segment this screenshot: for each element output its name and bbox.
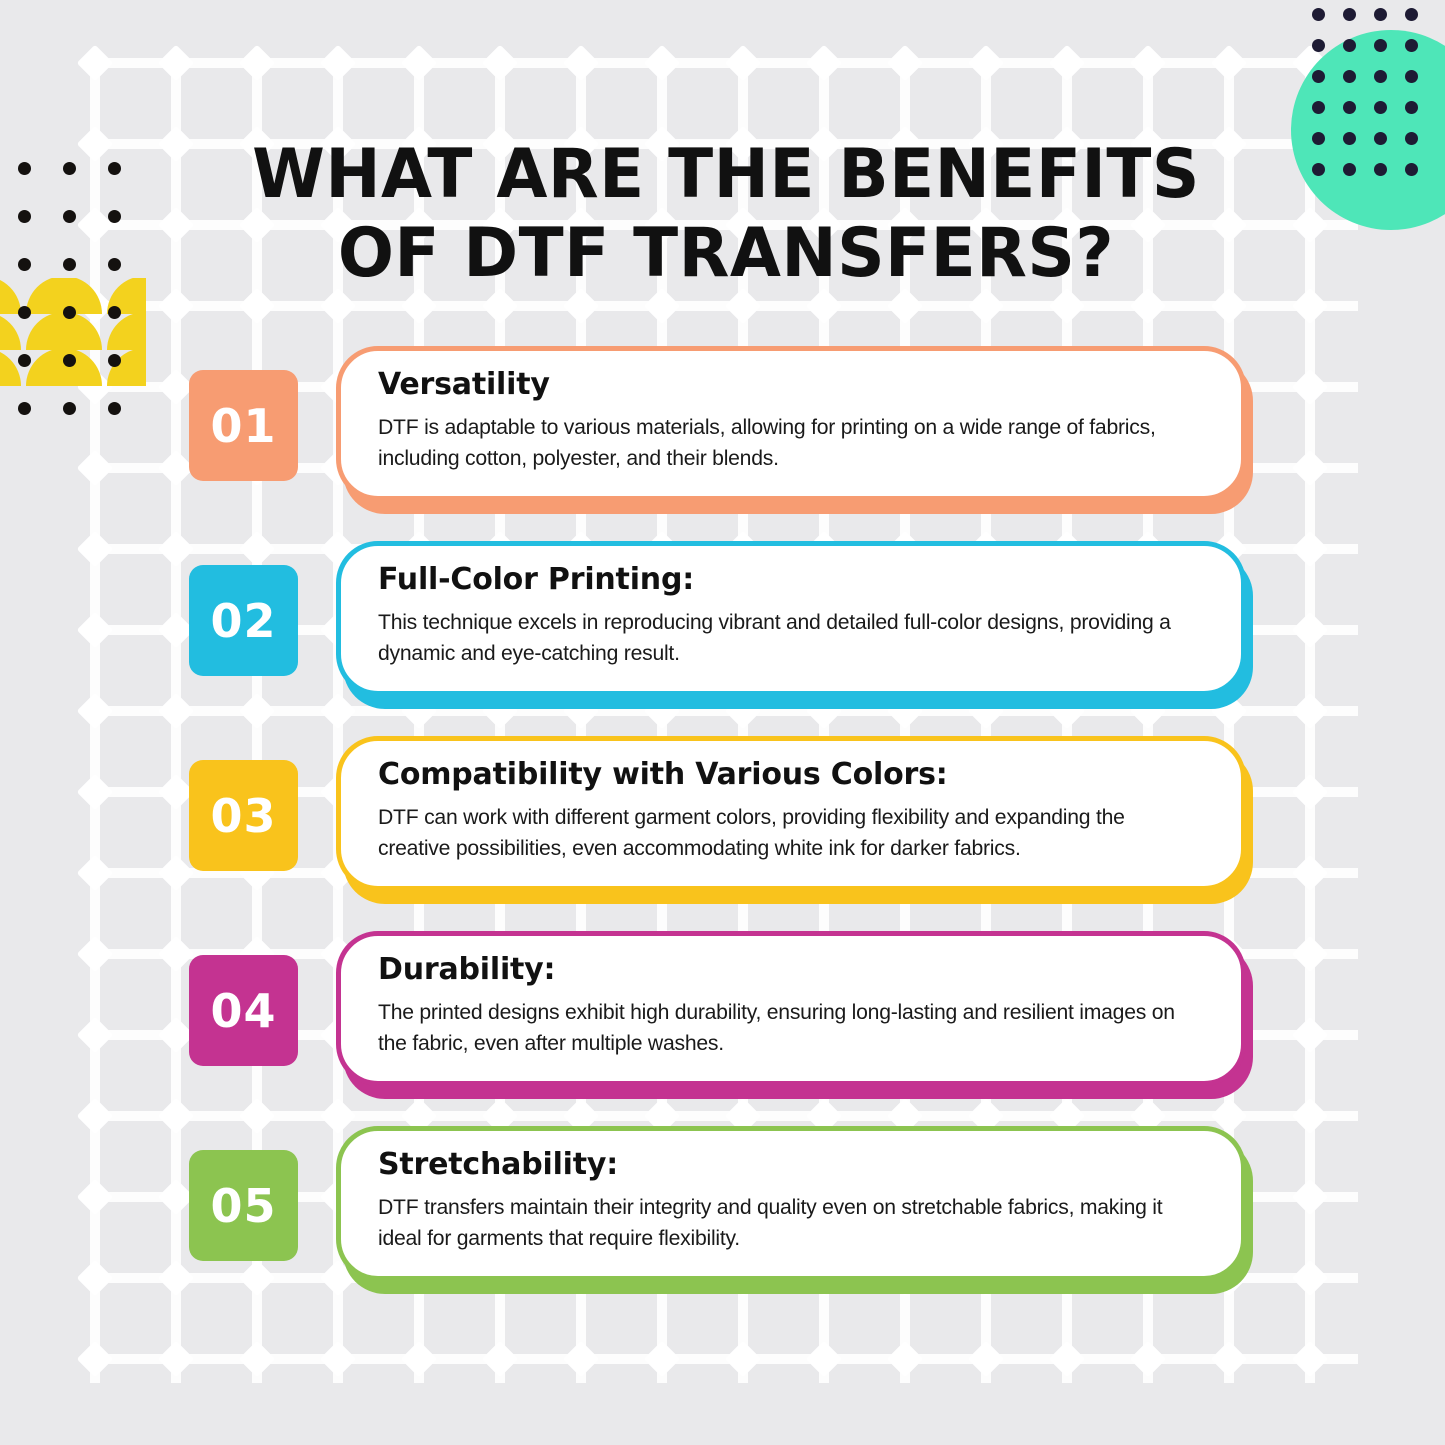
grid-node-diamond [158,288,195,325]
grid-node-diamond [887,45,924,82]
decorative-dot [63,306,76,319]
grid-node-diamond [1130,1341,1167,1378]
arch-shape [0,278,21,314]
decorative-dot [1312,39,1325,52]
grid-node-diamond [725,1341,762,1378]
grid-node-diamond [563,45,600,82]
benefit-title: Compatibility with Various Colors: [378,758,1201,791]
teal-circle-decoration [1291,30,1445,230]
benefit-item: 05Stretchability:DTF transfers maintain … [0,1121,1445,1316]
grid-node-diamond [77,288,114,325]
grid-node-diamond [1049,1341,1086,1378]
benefit-number-badge[interactable]: 02 [189,565,298,676]
benefit-title: Stretchability: [378,1148,1201,1181]
benefit-item: 03Compatibility with Various Colors:DTF … [0,731,1445,926]
benefit-title: Durability: [378,953,1201,986]
decorative-dot [63,162,76,175]
decorative-dot [108,162,121,175]
decorative-dot [1374,8,1387,21]
page-title: WHAT ARE THE BENEFITS OF DTF TRANSFERS? [193,136,1260,294]
arch-shape [107,278,146,314]
grid-node-diamond [1049,45,1086,82]
benefit-description: DTF can work with different garment colo… [378,802,1189,863]
grid-node-diamond [320,1341,357,1378]
decorative-dot [63,210,76,223]
decorative-dot [63,258,76,271]
grid-node-diamond [725,45,762,82]
decorative-dot [18,210,31,223]
grid-node-diamond [806,45,843,82]
benefit-number-badge[interactable]: 03 [189,760,298,871]
benefit-number-badge[interactable]: 05 [189,1150,298,1261]
benefit-description: This technique excels in reproducing vib… [378,607,1189,668]
grid-node-diamond [482,45,519,82]
benefit-description: The printed designs exhibit high durabil… [378,997,1189,1058]
grid-node-diamond [158,45,195,82]
grid-node-diamond [644,1341,681,1378]
decorative-dot [18,306,31,319]
benefit-item: 04Durability:The printed designs exhibit… [0,926,1445,1121]
benefit-card[interactable]: Full-Color Printing:This technique excel… [336,541,1246,696]
decorative-dot [1343,8,1356,21]
grid-node-diamond [158,1341,195,1378]
benefit-title: Full-Color Printing: [378,563,1201,596]
grid-node-diamond [77,207,114,244]
grid-node-diamond [77,126,114,163]
grid-node-diamond [320,45,357,82]
benefit-item: 02Full-Color Printing:This technique exc… [0,536,1445,731]
grid-node-diamond [482,1341,519,1378]
benefit-description: DTF is adaptable to various materials, a… [378,412,1189,473]
grid-node-diamond [644,45,681,82]
decorative-dot [108,258,121,271]
benefit-card[interactable]: Stretchability:DTF transfers maintain th… [336,1126,1246,1281]
grid-node-diamond [158,207,195,244]
benefit-number-label: 05 [210,1179,276,1233]
benefit-item: 01VersatilityDTF is adaptable to various… [0,341,1445,536]
benefits-list: 01VersatilityDTF is adaptable to various… [0,341,1445,1316]
dot-matrix-decoration-left [18,162,128,362]
benefit-number-label: 03 [210,789,276,843]
benefit-card[interactable]: Durability:The printed designs exhibit h… [336,931,1246,1086]
arch-row [0,278,146,314]
decorative-dot [108,210,121,223]
decorative-dot [18,162,31,175]
grid-node-diamond [239,1341,276,1378]
benefit-number-badge[interactable]: 01 [189,370,298,481]
grid-node-diamond [77,1341,114,1378]
grid-node-diamond [563,1341,600,1378]
grid-node-diamond [887,1341,924,1378]
benefit-card[interactable]: VersatilityDTF is adaptable to various m… [336,346,1246,501]
grid-node-diamond [968,1341,1005,1378]
benefit-description: DTF transfers maintain their integrity a… [378,1192,1189,1253]
grid-node-diamond [1292,207,1329,244]
grid-node-diamond [158,126,195,163]
decorative-dot [1312,8,1325,21]
grid-node-diamond [239,45,276,82]
grid-node-diamond [401,45,438,82]
arch-shape [26,278,102,314]
grid-node-diamond [1292,1341,1329,1378]
decorative-dot [18,258,31,271]
infographic-poster: WHAT ARE THE BENEFITS OF DTF TRANSFERS? … [0,0,1445,1445]
grid-node-diamond [1211,45,1248,82]
grid-node-diamond [401,1341,438,1378]
grid-node-diamond [1292,288,1329,325]
benefit-number-badge[interactable]: 04 [189,955,298,1066]
benefit-number-label: 02 [210,594,276,648]
benefit-card[interactable]: Compatibility with Various Colors:DTF ca… [336,736,1246,891]
decorative-dot [108,306,121,319]
benefit-number-label: 04 [210,984,276,1038]
benefit-number-label: 01 [210,399,276,453]
benefit-title: Versatility [378,368,1201,401]
grid-node-diamond [806,1341,843,1378]
grid-node-diamond [1211,1341,1248,1378]
decorative-dot [1405,8,1418,21]
grid-node-diamond [968,45,1005,82]
grid-node-diamond [1130,45,1167,82]
grid-node-diamond [77,45,114,82]
